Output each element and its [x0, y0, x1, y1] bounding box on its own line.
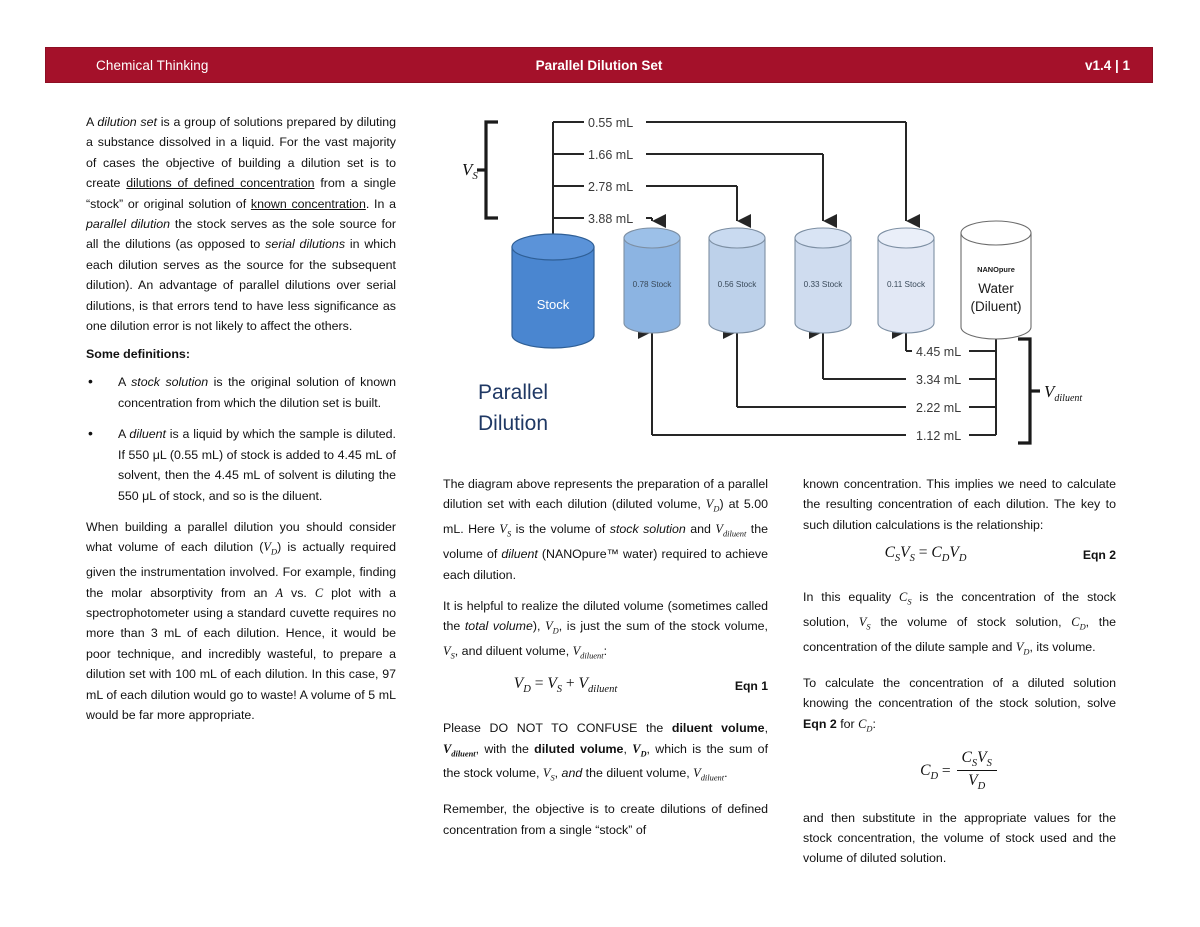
p3-text-d: plot with a spectrophotometer using a st… — [86, 586, 396, 722]
mid-p1-vdil: Vdiluent — [715, 522, 746, 536]
stock-line-055 — [553, 122, 906, 221]
intro-underline-dilutions-defined: dilutions of defined concentration — [126, 176, 314, 190]
stock-volume-label-4: 3.88 mL — [588, 212, 633, 226]
intro-italic-parallel-dilution: parallel dilution — [86, 217, 170, 231]
equation-1-row: VD = VS + Vdiluent Eqn 1 — [443, 675, 768, 705]
right-p2-vd: VD — [1016, 640, 1030, 654]
mid-p3-vdil2-sub: diluent — [701, 773, 724, 783]
intro-text-d: . In a — [366, 197, 396, 211]
p3-var-vd: VD — [263, 540, 277, 554]
mid-p1-vd: VD — [706, 497, 720, 511]
right-p2-vs: VS — [859, 615, 871, 629]
parallel-dilution-diagram: VS — [440, 105, 1160, 455]
mid-p1-c: is the volume of — [511, 522, 610, 536]
right-p3-c: for — [837, 717, 858, 731]
def1-text-a: A — [118, 375, 131, 389]
mid-p2-vdil: Vdiluent — [573, 644, 604, 658]
p3-var-C: C — [315, 586, 323, 600]
paragraph-do-not-confuse: Please DO NOT TO CONFUSE the diluent vol… — [443, 718, 768, 788]
p3-vd: V — [263, 540, 271, 554]
right-p2-cs: CS — [899, 590, 911, 604]
intro-text-a: A — [86, 115, 97, 129]
mid-p3-h: . — [724, 766, 727, 780]
mid-p2-vdil-sub: diluent — [580, 651, 603, 661]
def2-italic-term: diluent — [129, 427, 166, 441]
cylinder-label-stock: Stock — [537, 297, 570, 312]
water-label-line1: Water — [978, 281, 1014, 296]
intro-underline-known-concentration: known concentration — [251, 197, 366, 211]
mid-p2-italic-total-volume: total volume — [465, 619, 533, 633]
def2-text-a: A — [118, 427, 129, 441]
diluent-line-222 — [737, 332, 996, 407]
right-p2-cd: CD — [1071, 615, 1085, 629]
mid-p3-italic-and: and — [562, 766, 583, 780]
cylinder-056-stock: 0.56 Stock — [709, 228, 765, 333]
mid-p2-vd: VD — [545, 619, 559, 633]
definitions-list: A stock solution is the original solutio… — [86, 372, 396, 505]
mid-p3-d: , — [623, 742, 632, 756]
cylinder-078-stock: 0.78 Stock — [624, 228, 680, 333]
paragraph-equality-definition: In this equality CS is the concentration… — [803, 587, 1116, 662]
vs-bracket — [477, 122, 498, 218]
right-p3-cd: CD — [858, 717, 872, 731]
vs-label: VS — [462, 160, 478, 182]
mid-p1-vdil-sub: diluent — [723, 529, 746, 539]
right-p3-d: : — [872, 717, 875, 731]
mid-p2-c: , is just the sum of the stock volume, — [559, 619, 768, 633]
paragraph-solve-for-cd: To calculate the concentration of a dilu… — [803, 673, 1116, 739]
mid-p3-vd: VD — [632, 742, 646, 756]
stock-line-278 — [553, 186, 737, 221]
mid-p3-c: , with the — [476, 742, 535, 756]
fraction-cs-vs-over-vd: CSVS VD — [957, 748, 997, 794]
stock-volume-label-3: 2.78 mL — [588, 180, 633, 194]
mid-p2-e: : — [604, 644, 607, 658]
mid-p3-vdil: Vdiluent — [443, 742, 476, 756]
vdiluent-bracket — [1018, 339, 1040, 443]
cylinder-stock: Stock — [512, 234, 594, 348]
mid-p2-d: , and diluent volume, — [455, 644, 573, 658]
equation-3-cd-formula: CD = CSVS VD — [803, 749, 1116, 795]
mid-p3-f: , — [555, 766, 562, 780]
mid-p3-a: Please DO NOT TO CONFUSE the — [443, 721, 672, 735]
equation-1: VD = VS + Vdiluent — [443, 675, 688, 695]
mid-p3-vdil2-v: V — [693, 766, 701, 780]
equation-2: CSVS = CDVD — [803, 544, 1048, 564]
stock-volume-label-2: 1.66 mL — [588, 148, 633, 162]
mid-p3-vs: VS — [543, 766, 555, 780]
cylinder-label-056: 0.56 Stock — [718, 280, 758, 289]
equation-2-row: CSVS = CDVD Eqn 2 — [803, 544, 1116, 574]
fraction-numerator: CSVS — [957, 748, 997, 771]
header-document-title: Parallel Dilution Set — [46, 58, 1152, 73]
mid-p1-vs: VS — [499, 522, 511, 536]
document-page: Chemical Thinking Parallel Dilution Set … — [0, 0, 1200, 927]
equation-2-label: Eqn 2 — [1083, 548, 1116, 562]
mid-p1-vdil-v: V — [715, 522, 723, 536]
mid-p2-b: ), — [533, 619, 545, 633]
mid-p3-b: , — [765, 721, 768, 735]
intro-text-f: in which each dilution serves as the sou… — [86, 237, 396, 333]
cylinder-label-078: 0.78 Stock — [633, 280, 673, 289]
cylinder-011-stock: 0.11 Stock — [878, 228, 934, 333]
right-p2-e: , its volume. — [1030, 640, 1096, 654]
water-label-line2: (Diluent) — [970, 299, 1021, 314]
mid-p2-vs-v: V — [443, 644, 451, 658]
mid-p1-italic-diluent: diluent — [501, 547, 538, 561]
def1-italic-term: stock solution — [131, 375, 208, 389]
mid-p3-vdil2: Vdiluent — [693, 766, 724, 780]
middle-text-column: The diagram above represents the prepara… — [443, 474, 768, 851]
mid-p2-vd-v: V — [545, 619, 553, 633]
diagram-title-line2: Dilution — [478, 412, 548, 435]
mid-p1-vs-v: V — [499, 522, 507, 536]
diluent-volume-label-4: 1.12 mL — [916, 429, 961, 443]
vdiluent-label: Vdiluent — [1044, 382, 1082, 404]
right-p3-a: To calculate the concentration of a dilu… — [803, 676, 1116, 710]
intro-italic-serial-dilutions: serial dilutions — [265, 237, 345, 251]
fraction-denominator: VD — [957, 771, 997, 794]
diagram-title-line1: Parallel — [478, 381, 548, 404]
diluent-volume-label-2: 3.34 mL — [916, 373, 961, 387]
cylinder-label-033: 0.33 Stock — [804, 280, 844, 289]
stock-volume-label-1: 0.55 mL — [588, 116, 633, 130]
mid-p3-g: the diluent volume, — [582, 766, 693, 780]
paragraph-remember: Remember, the objective is to create dil… — [443, 799, 768, 840]
right-p2-cd-c: C — [1071, 615, 1079, 629]
right-p3-bold-eqn2: Eqn 2 — [803, 717, 837, 731]
right-p2-c: the volume of stock solution, — [871, 615, 1072, 629]
paragraph-volume-consideration: When building a parallel dilution you sh… — [86, 517, 396, 726]
right-p2-a: In this equality — [803, 590, 899, 604]
paragraph-diagram-description: The diagram above represents the prepara… — [443, 474, 768, 585]
p3-var-A: A — [275, 586, 283, 600]
left-text-column: A dilution set is a group of solutions p… — [86, 112, 396, 736]
mid-p1-italic-stock-solution: stock solution — [610, 522, 686, 536]
intro-italic-dilution-set: dilution set — [97, 115, 157, 129]
header-version-page: v1.4 | 1 — [1085, 58, 1130, 73]
mid-p3-bold-diluent-volume: diluent volume — [672, 721, 765, 735]
definition-stock-solution: A stock solution is the original solutio… — [86, 372, 396, 413]
cylinder-water-diluent: NANOpure Water (Diluent) — [961, 221, 1031, 339]
diluent-line-334 — [823, 332, 996, 379]
cylinder-label-011: 0.11 Stock — [887, 280, 926, 289]
diluent-volume-label-3: 2.22 mL — [916, 401, 961, 415]
right-text-column: known concentration. This implies we nee… — [803, 474, 1116, 880]
paragraph-diluted-volume: It is helpful to realize the diluted vol… — [443, 596, 768, 666]
definitions-heading: Some definitions: — [86, 347, 396, 361]
mid-p2-vs: VS — [443, 644, 455, 658]
water-nanopure-label: NANOpure — [977, 265, 1015, 274]
mid-p1-d: and — [686, 522, 716, 536]
cylinder-033-stock: 0.33 Stock — [795, 228, 851, 333]
mid-p3-vdil-sub: diluent — [451, 748, 475, 758]
page-header: Chemical Thinking Parallel Dilution Set … — [45, 47, 1155, 87]
header-bar: Chemical Thinking Parallel Dilution Set … — [45, 47, 1153, 83]
definition-diluent: A diluent is a liquid by which the sampl… — [86, 424, 396, 506]
paragraph-known-concentration: known concentration. This implies we nee… — [803, 474, 1116, 535]
paragraph-substitute-values: and then substitute in the appropriate v… — [803, 808, 1116, 869]
equation-1-label: Eqn 1 — [735, 679, 768, 693]
p3-text-c: vs. — [283, 586, 315, 600]
paragraph-intro: A dilution set is a group of solutions p… — [86, 112, 396, 336]
diluent-volume-label-1: 4.45 mL — [916, 345, 961, 359]
mid-p3-bold-diluted-volume: diluted volume — [534, 742, 623, 756]
